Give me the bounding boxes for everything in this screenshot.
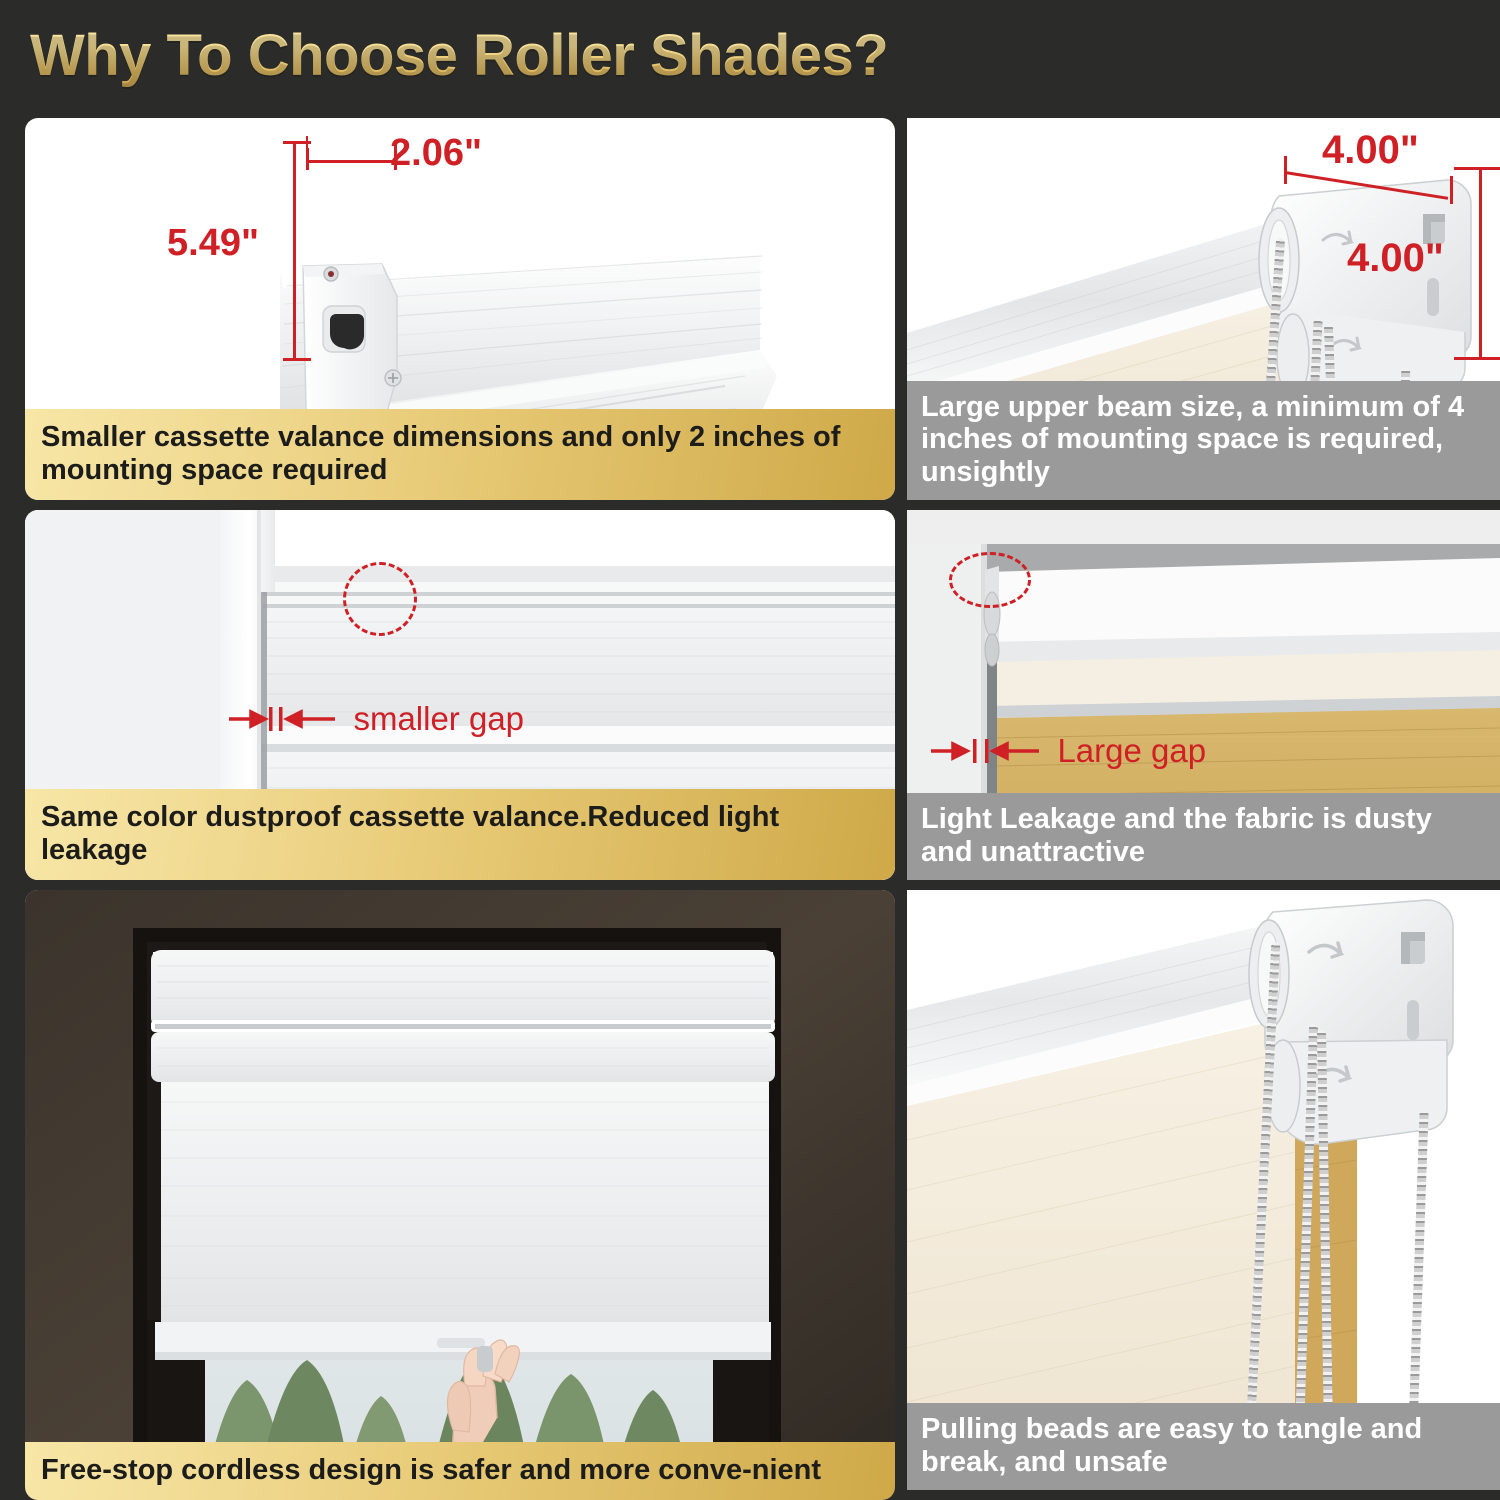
height-dimension-tick-top	[283, 141, 311, 144]
width-dimension-label: 2.06"	[390, 132, 482, 175]
caption-cordless-design: Free-stop cordless design is safer and m…	[25, 1442, 895, 1500]
width-dimension-line	[307, 160, 397, 163]
light-leak-detail-highlight-circle	[949, 552, 1031, 608]
panel-light-leakage: Large gap Light Leakage and the fabric i…	[907, 510, 1500, 880]
smaller-gap-callout: smaller gap	[225, 700, 524, 738]
height-dimension-label: 5.49"	[167, 222, 259, 265]
cordless-design-illustration	[25, 890, 895, 1500]
panel-valance-dimensions: 2.06" 5.49" Smaller cassette valance dim…	[25, 118, 895, 500]
beam-width-tick-left	[1284, 156, 1287, 184]
panel-upper-beam-size: 4.00" 4.00" Large upper beam size, a min…	[907, 118, 1500, 500]
beam-height-dimension-label: 4.00"	[1347, 236, 1444, 281]
height-dimension-tick-bottom	[283, 358, 311, 361]
comparison-grid: 2.06" 5.49" Smaller cassette valance dim…	[0, 118, 1500, 1500]
caption-light-leakage: Light Leakage and the fabric is dusty an…	[907, 793, 1500, 880]
beam-width-dimension-label: 4.00"	[1322, 128, 1419, 173]
caption-dustproof-cassette: Same color dustproof cassette valance.Re…	[25, 789, 895, 880]
large-gap-label: Large gap	[1057, 732, 1206, 769]
caption-pulling-beads: Pulling beads are easy to tangle and bre…	[907, 1403, 1500, 1490]
smaller-gap-label: smaller gap	[353, 700, 524, 737]
beam-height-tick-bottom	[1454, 357, 1500, 360]
width-guide-left	[306, 136, 308, 152]
cassette-detail-highlight-circle	[343, 562, 417, 636]
page-title: Why To Choose Roller Shades?	[30, 22, 888, 89]
panel-dustproof-cassette: smaller gap Same color dustproof cassett…	[25, 510, 895, 880]
panel-cordless-design: Free-stop cordless design is safer and m…	[25, 890, 895, 1500]
large-gap-callout: Large gap	[927, 732, 1206, 770]
panel-pulling-beads: Pulling beads are easy to tangle and bre…	[907, 890, 1500, 1490]
beam-height-dimension-line	[1479, 168, 1482, 360]
pulling-beads-illustration	[907, 890, 1500, 1490]
caption-upper-beam-size: Large upper beam size, a minimum of 4 in…	[907, 381, 1500, 500]
beam-width-tick-right	[1450, 176, 1453, 204]
height-dimension-lower-seg	[293, 266, 296, 359]
beam-height-tick-top	[1454, 167, 1500, 170]
caption-valance-dimensions: Smaller cassette valance dimensions and …	[25, 409, 895, 500]
